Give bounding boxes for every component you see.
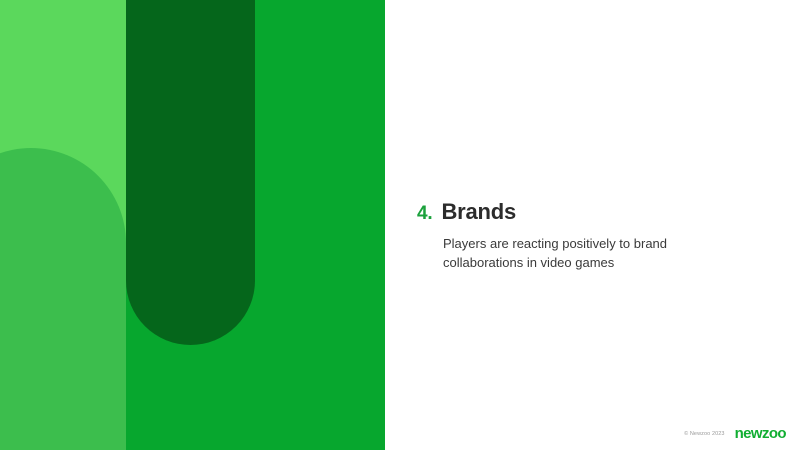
page-title: Brands [441, 199, 516, 225]
dark-green-pill-shape [126, 0, 255, 345]
slide-footer: © Newzoo 2023 newzoo [684, 426, 786, 441]
slide-canvas: 4. Brands Players are reacting positivel… [0, 0, 800, 450]
newzoo-logo: newzoo [735, 426, 786, 441]
decorative-graphic-panel [0, 0, 385, 450]
section-intro-content: 4. Brands Players are reacting positivel… [417, 199, 757, 272]
section-subtitle: Players are reacting positively to brand… [443, 234, 715, 272]
section-number: 4. [417, 203, 432, 225]
mid-light-green-pill-shape [0, 148, 126, 450]
copyright-text: © Newzoo 2023 [684, 431, 725, 437]
section-title-row: 4. Brands [417, 199, 757, 225]
